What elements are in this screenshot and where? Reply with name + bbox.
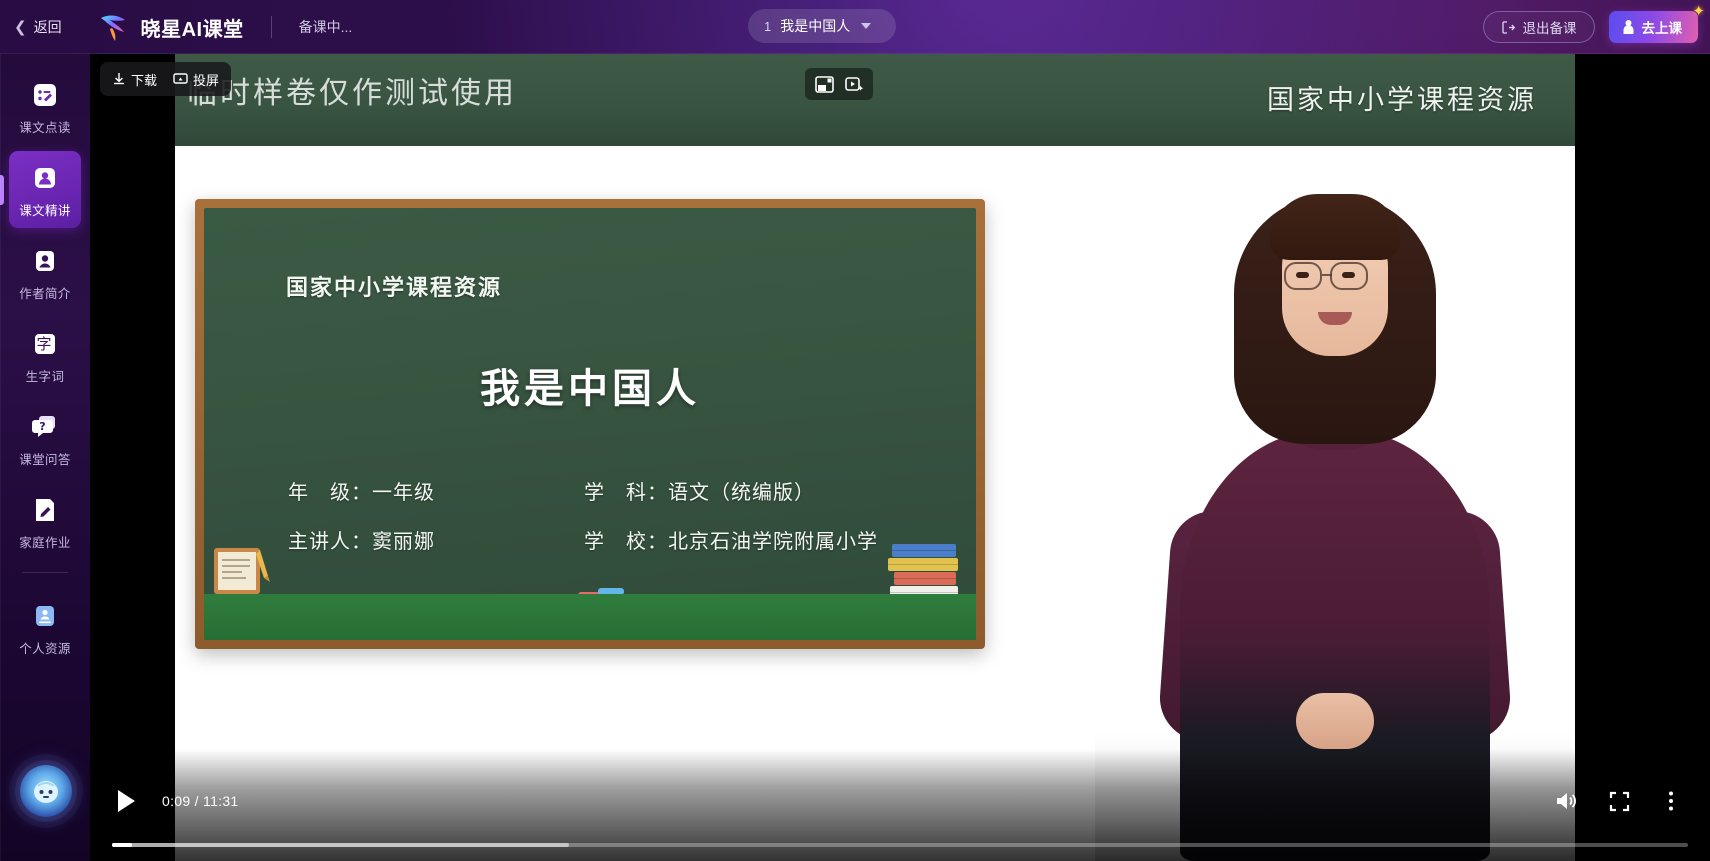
head xyxy=(1256,188,1414,384)
sidebar-label: 作者简介 xyxy=(19,283,71,302)
volume-icon xyxy=(1555,790,1579,812)
kebab-menu-icon xyxy=(1668,790,1674,812)
sidebar-item-new-words[interactable]: 字 生字词 xyxy=(9,317,81,394)
homework-pen-icon xyxy=(30,495,60,525)
qa-bubble-icon: ? xyxy=(30,412,60,442)
svg-text:?: ? xyxy=(39,420,45,433)
video-stage[interactable]: 临时样卷仅作测试使用 xyxy=(90,54,1710,861)
watermark-text: 临时样卷仅作测试使用 xyxy=(187,68,517,112)
video-magic-icon[interactable] xyxy=(842,73,866,95)
controls-row: 0:09 / 11:31 xyxy=(90,777,1710,825)
blackboard: 国家中小学课程资源 我是中国人 年 级： 一年级 学 科： 语文（统编版 xyxy=(204,208,976,640)
sidebar-label: 个人资源 xyxy=(19,638,71,657)
glasses-bridge xyxy=(1322,274,1332,276)
blackboard-wrapper: 国家中小学课程资源 我是中国人 年 级： 一年级 学 科： 语文（统编版 xyxy=(195,199,985,649)
player-controls: 0:09 / 11:31 xyxy=(90,749,1710,861)
layout-pip-icon[interactable] xyxy=(812,73,836,95)
text-read-icon xyxy=(30,80,60,110)
app-root: ❮ 返回 晓星AI课堂 备课中... 1 我是中国人 xyxy=(0,0,1710,861)
board-brand-text: 国家中小学课程资源 xyxy=(286,270,502,302)
back-button[interactable]: ❮ 返回 xyxy=(14,17,62,37)
character-word-icon: 字 xyxy=(30,329,60,359)
personal-resource-icon xyxy=(30,601,60,631)
hair-front xyxy=(1270,194,1400,260)
lesson-number: 1 xyxy=(764,19,771,34)
play-button[interactable] xyxy=(102,777,150,825)
eye-right xyxy=(1342,272,1355,278)
sidebar-divider xyxy=(22,572,68,573)
lecture-person-icon xyxy=(30,163,60,193)
meta-key: 年 级： xyxy=(288,476,372,505)
logout-icon xyxy=(1501,20,1516,35)
slide-icon-group xyxy=(805,68,873,100)
sidebar-item-qa[interactable]: ? 课堂问答 xyxy=(9,400,81,477)
chalk-icon xyxy=(576,582,638,604)
floating-toolbar: 下载 投屏 xyxy=(100,62,231,96)
sparkle-icon: ✦ xyxy=(1692,2,1705,20)
sidebar-label: 课堂问答 xyxy=(19,449,71,468)
ai-assistant-avatar[interactable] xyxy=(20,765,72,817)
sidebar-item-homework[interactable]: 家庭作业 xyxy=(9,483,81,560)
eye-left xyxy=(1296,272,1309,278)
author-person-icon xyxy=(30,246,60,276)
sidebar-label: 课文点读 xyxy=(19,117,71,136)
board-meta-block: 年 级： 一年级 学 科： 语文（统编版） 主讲人： xyxy=(288,476,916,574)
clipboard-icon xyxy=(210,542,284,604)
svg-text:字: 字 xyxy=(36,335,51,353)
progress-bar[interactable] xyxy=(112,843,1688,847)
sidebar-item-author[interactable]: 作者简介 xyxy=(9,234,81,311)
header-actions: 退出备课 ✦ 去上课 xyxy=(1483,0,1699,54)
meta-value: 一年级 xyxy=(372,476,435,505)
board-lesson-title: 我是中国人 xyxy=(204,356,976,414)
fullscreen-button[interactable] xyxy=(1606,788,1632,814)
fullscreen-icon xyxy=(1609,791,1630,812)
volume-button[interactable] xyxy=(1554,788,1580,814)
meta-value: 北京石油学院附属小学 xyxy=(668,525,878,554)
play-icon xyxy=(114,788,138,814)
prep-status-label: 备课中... xyxy=(299,17,353,37)
slide-content: 临时样卷仅作测试使用 xyxy=(175,54,1575,861)
cast-screen-icon xyxy=(173,72,188,86)
exit-prep-button[interactable]: 退出备课 xyxy=(1483,11,1595,43)
lesson-name: 我是中国人 xyxy=(780,16,850,36)
download-icon xyxy=(112,72,126,86)
sidebar-label: 生字词 xyxy=(26,366,65,385)
sidebar-item-personal-resource[interactable]: 个人资源 xyxy=(9,589,81,666)
meta-value: 窦丽娜 xyxy=(372,525,435,554)
time-display: 0:09 / 11:31 xyxy=(162,793,239,809)
teacher-icon xyxy=(1621,19,1636,35)
meta-key: 学 校： xyxy=(584,525,668,554)
left-sidebar: 课文点读 课文精讲 作者简介 字 生字词 xyxy=(0,54,90,861)
brand-logo-icon xyxy=(98,12,132,42)
chevron-left-icon: ❮ xyxy=(14,20,27,35)
brand-block: 晓星AI课堂 备课中... xyxy=(98,12,353,42)
meta-row: 年 级： 一年级 学 科： 语文（统编版） xyxy=(288,476,916,505)
download-label: 下载 xyxy=(131,70,157,89)
more-options-button[interactable] xyxy=(1658,788,1684,814)
meta-key: 主讲人： xyxy=(288,525,372,554)
download-button[interactable]: 下载 xyxy=(112,70,157,89)
brand-title: 晓星AI课堂 xyxy=(141,13,244,42)
sidebar-item-lecture[interactable]: 课文精讲 xyxy=(9,151,81,228)
progress-played xyxy=(112,843,132,847)
sidebar-label: 家庭作业 xyxy=(19,532,71,551)
slide-top-band: 临时样卷仅作测试使用 xyxy=(175,54,1575,146)
header-divider xyxy=(271,16,272,38)
back-label: 返回 xyxy=(34,17,62,37)
go-to-class-button[interactable]: ✦ 去上课 xyxy=(1609,11,1699,43)
books-icon xyxy=(884,536,970,608)
sidebar-label: 课文精讲 xyxy=(19,200,71,219)
cast-screen-label: 投屏 xyxy=(193,70,219,89)
ai-robot-face-icon xyxy=(29,774,63,808)
meta-row: 主讲人： 窦丽娜 学 校： 北京石油学院附属小学 xyxy=(288,525,916,554)
slide-band-brand: 国家中小学课程资源 xyxy=(1267,78,1537,117)
chevron-down-icon xyxy=(861,23,871,29)
controls-right-group xyxy=(1554,788,1684,814)
top-header: ❮ 返回 晓星AI课堂 备课中... 1 我是中国人 xyxy=(0,0,1710,54)
hands xyxy=(1296,693,1374,749)
blackboard-frame: 国家中小学课程资源 我是中国人 年 级： 一年级 学 科： 语文（统编版 xyxy=(195,199,985,649)
exit-prep-label: 退出备课 xyxy=(1523,17,1577,37)
meta-key: 学 科： xyxy=(584,476,668,505)
lesson-selector[interactable]: 1 我是中国人 xyxy=(748,9,896,43)
meta-value: 语文（统编版） xyxy=(668,476,815,505)
go-to-class-label: 去上课 xyxy=(1642,17,1683,37)
progress-buffered xyxy=(112,843,569,847)
cast-screen-button[interactable]: 投屏 xyxy=(173,70,219,89)
sidebar-item-text-read[interactable]: 课文点读 xyxy=(9,68,81,145)
